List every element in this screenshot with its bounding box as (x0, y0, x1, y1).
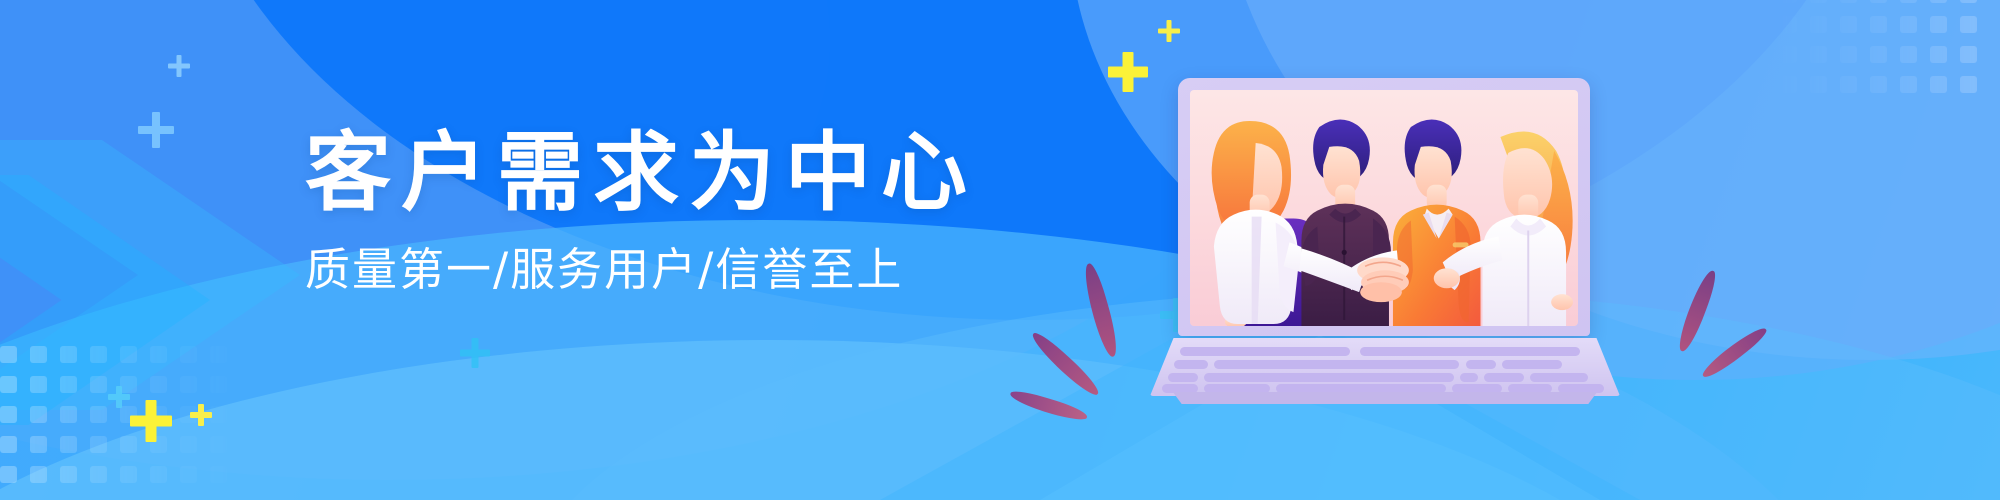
leaf-decor-right-1 (1675, 268, 1719, 354)
plus-white-small-icon (168, 55, 190, 77)
leaf-decor-left-3 (1008, 388, 1089, 424)
laptop-lid (1178, 78, 1590, 336)
dot-grid-bottom-left-icon (0, 340, 270, 500)
dot-grid-top-right-icon (1750, 0, 2000, 120)
promo-banner: 客户需求为中心 质量第一/服务用户/信誉至上 (0, 0, 2000, 500)
banner-headline: 客户需求为中心 (305, 128, 1065, 219)
laptop-illustration (1150, 78, 1620, 418)
chevron-arrow-decor-2 (0, 175, 210, 425)
plus-cyan-mid-icon (460, 338, 490, 368)
laptop-base-lip (1164, 392, 1606, 404)
team-hands-illustration (1190, 90, 1578, 326)
banner-copy: 客户需求为中心 质量第一/服务用户/信誉至上 (305, 128, 1065, 295)
plus-yellow-large-icon (1108, 52, 1148, 92)
plus-yellow-small-icon (1158, 20, 1180, 42)
laptop-base (1150, 338, 1620, 396)
plus-yellow-bottom-large-icon (130, 400, 172, 442)
leaf-decor-left-1 (1079, 262, 1122, 359)
banner-subline: 质量第一/服务用户/信誉至上 (305, 245, 1065, 295)
chevron-arrow-decor-1 (0, 140, 300, 410)
plus-white-large-icon (138, 112, 174, 148)
leaf-decor-right-2 (1699, 323, 1769, 382)
plus-cyan-small-icon (108, 386, 130, 408)
plus-yellow-bottom-small-icon (190, 404, 212, 426)
laptop-screen (1190, 90, 1578, 326)
leaf-decor-left-2 (1028, 329, 1103, 399)
